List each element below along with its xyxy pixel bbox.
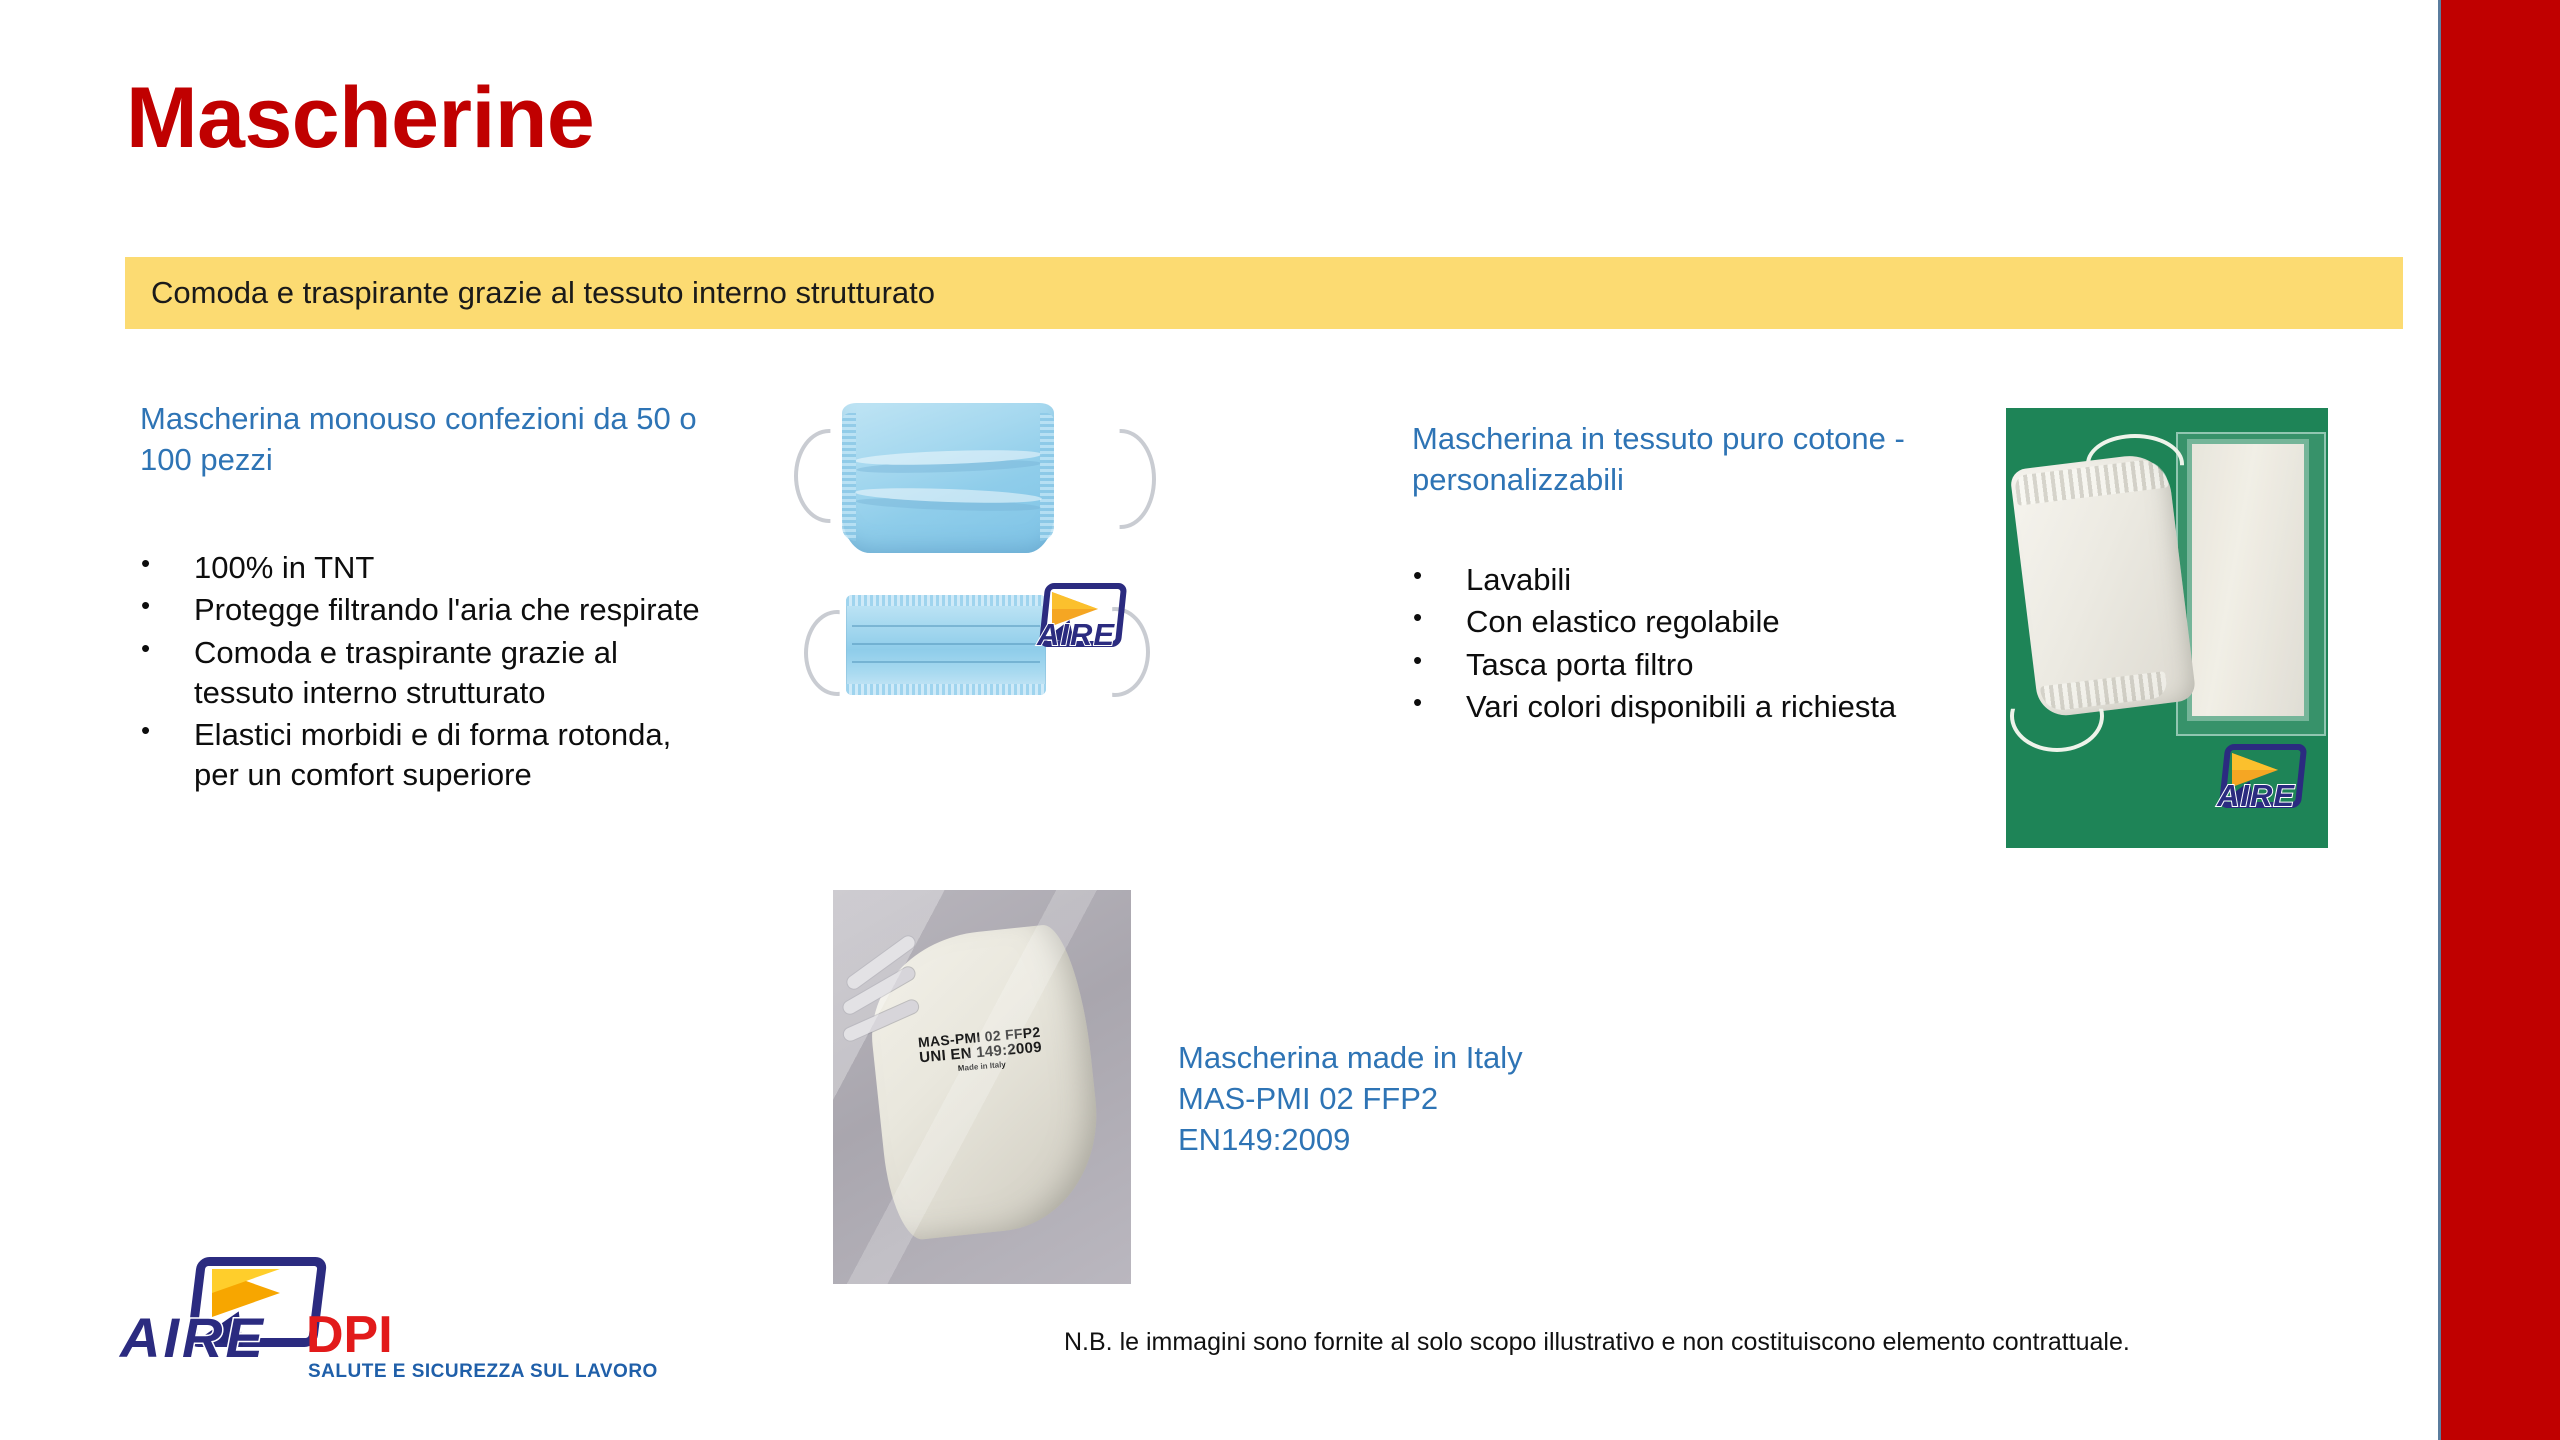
photo-surgical-masks: AIRE (790, 395, 1160, 740)
ear-loop-icon (1086, 429, 1156, 529)
disclaimer-note: N.B. le immagini sono fornite al solo sc… (1064, 1328, 2130, 1357)
subtitle-banner-text: Comoda e traspirante grazie al tessuto i… (125, 275, 935, 311)
mask-edge (1040, 413, 1054, 541)
cotton-mask-package (2192, 444, 2304, 716)
logo-brand-text: AIRE (120, 1305, 266, 1370)
mask-edge (846, 595, 1046, 606)
surgical-mask-flat (846, 595, 1046, 695)
list-item: Lavabili (1402, 560, 1962, 600)
mask-edge (846, 684, 1046, 695)
logo-product-text: DPI (306, 1305, 393, 1365)
made-in-italy-line-3: EN149:2009 (1178, 1120, 1523, 1161)
aire-watermark-text: AIRE (1022, 617, 1130, 653)
page-title: Mascherine (126, 75, 594, 161)
list-item: Protegge filtrando l'aria che respirate (130, 590, 720, 630)
aire-dpi-logo: AIRE DPI SALUTE E SICUREZZA SUL LAVORO (120, 1255, 590, 1385)
right-red-band (2438, 0, 2560, 1440)
slide-canvas: Mascherine Comoda e traspirante grazie a… (0, 0, 2560, 1440)
list-item: 100% in TNT (130, 548, 720, 588)
aire-watermark: AIRE (1022, 583, 1130, 661)
right-column-heading: Mascherina in tessuto puro cotone - pers… (1412, 418, 1952, 500)
left-column-heading: Mascherina monouso confezioni da 50 o 10… (140, 398, 740, 480)
logo-triangle-highlight-icon (212, 1269, 280, 1293)
ffp2-head-straps (839, 950, 931, 1076)
list-item: Elastici morbidi e di forma rotonda, per… (130, 715, 720, 796)
photo-cotton-mask: AIRE (2006, 408, 2328, 848)
photo-ffp2-mask: MAS-PMI 02 FFP2 UNI EN 149:2009 Made in … (833, 890, 1131, 1284)
list-item: Vari colori disponibili a richiesta (1402, 687, 1962, 727)
left-column-bullet-list: 100% in TNT Protegge filtrando l'aria ch… (130, 548, 720, 798)
list-item: Con elastico regolabile (1402, 602, 1962, 642)
mask-edge (842, 413, 856, 541)
list-item: Comoda e traspirante grazie al tessuto i… (130, 633, 720, 714)
made-in-italy-line-2: MAS-PMI 02 FFP2 (1178, 1079, 1523, 1120)
aire-watermark-text: AIRE (2202, 778, 2310, 814)
surgical-mask-front (842, 403, 1054, 553)
made-in-italy-line-1: Mascherina made in Italy (1178, 1038, 1523, 1079)
made-in-italy-block: Mascherina made in Italy MAS-PMI 02 FFP2… (1178, 1038, 1523, 1161)
subtitle-banner: Comoda e traspirante grazie al tessuto i… (125, 257, 2403, 329)
aire-triangle-highlight-icon (1052, 592, 1098, 609)
aire-watermark: AIRE (2202, 744, 2310, 822)
list-item: Tasca porta filtro (1402, 645, 1962, 685)
logo-tagline-text: SALUTE E SICUREZZA SUL LAVORO (308, 1361, 658, 1383)
aire-triangle-highlight-icon (2232, 753, 2278, 770)
right-column-bullet-list: Lavabili Con elastico regolabile Tasca p… (1402, 560, 1962, 729)
cotton-mask-body (2009, 451, 2196, 718)
